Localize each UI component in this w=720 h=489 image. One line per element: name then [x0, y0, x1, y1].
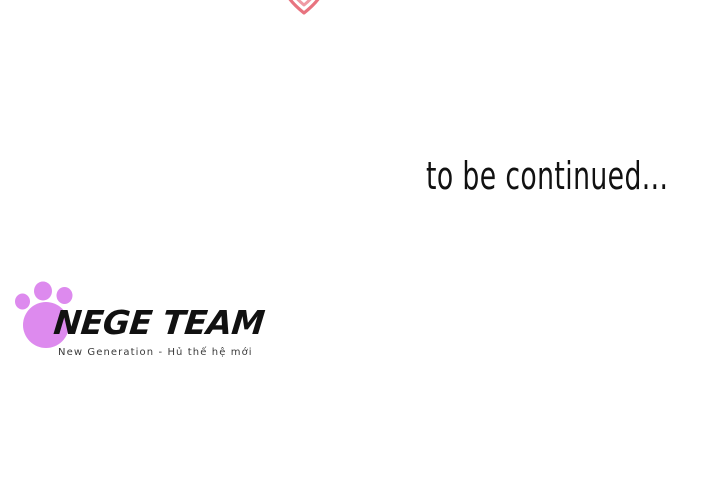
heart-outline-ornament: [283, 0, 325, 16]
to-be-continued-caption: to be continued...: [426, 154, 668, 198]
scanlation-watermark: NEGE TEAM New Generation - Hủ thế hệ mới: [14, 277, 229, 363]
brand-tagline: New Generation - Hủ thế hệ mới: [58, 346, 253, 359]
brand-name: NEGE TEAM: [52, 305, 266, 341]
comic-page: to be continued... NEGE TEAM New Generat…: [0, 0, 720, 489]
